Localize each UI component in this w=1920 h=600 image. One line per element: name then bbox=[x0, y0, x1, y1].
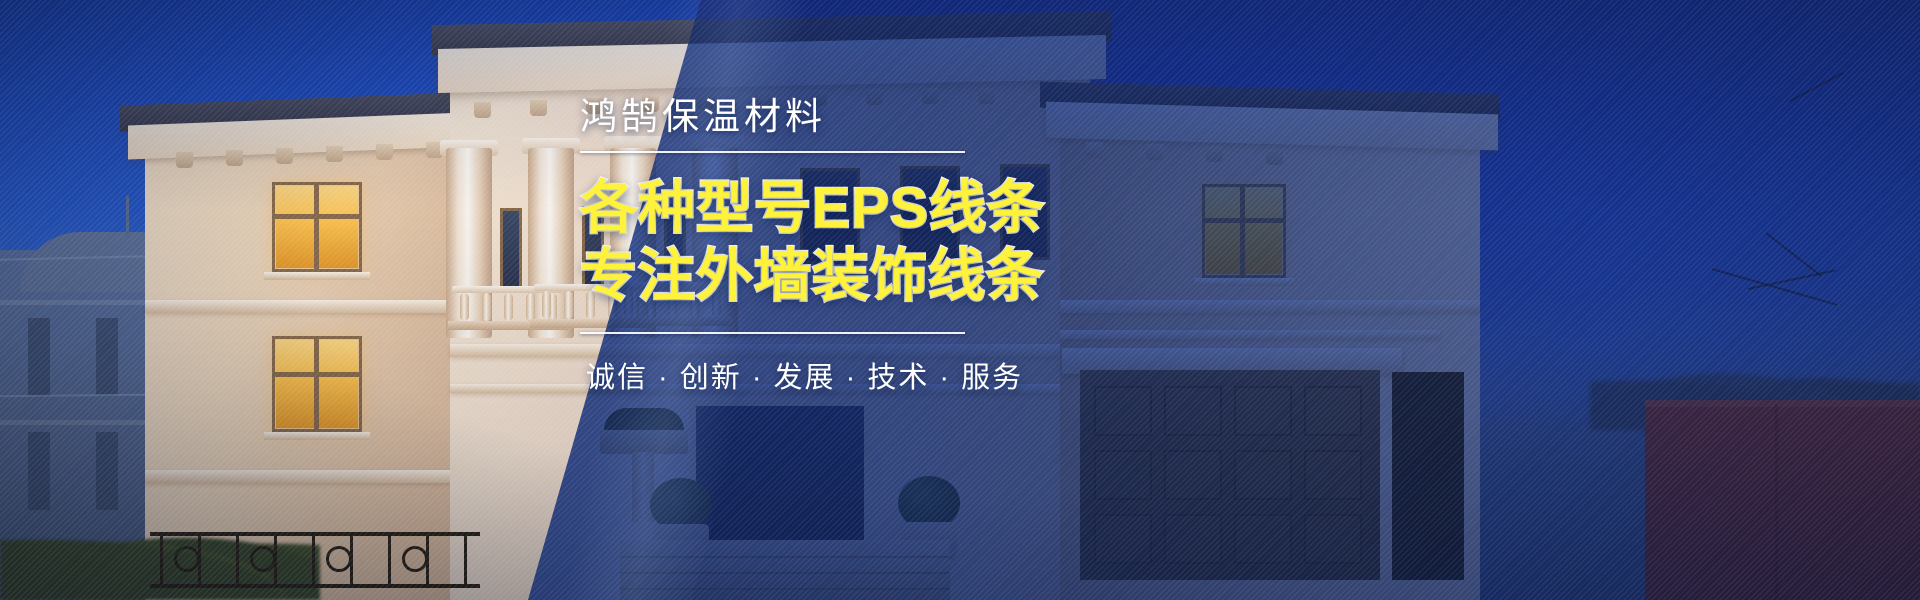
headline-line-1: 各种型号EPS线条 bbox=[580, 175, 1280, 242]
tagline: 诚信 · 创新 · 发展 · 技术 · 服务 bbox=[580, 354, 1280, 396]
promo-banner: 鸿鹄保温材料 各种型号EPS线条 专注外墙装饰线条 诚信 · 创新 · 发展 ·… bbox=[0, 0, 1920, 600]
divider-top bbox=[580, 151, 965, 153]
headline-group: 各种型号EPS线条 专注外墙装饰线条 bbox=[580, 175, 1280, 310]
divider-bottom bbox=[580, 332, 965, 334]
company-name: 鸿鹄保温材料 bbox=[580, 96, 1280, 137]
banner-text-block: 鸿鹄保温材料 各种型号EPS线条 专注外墙装饰线条 诚信 · 创新 · 发展 ·… bbox=[580, 96, 1280, 396]
headline-line-2: 专注外墙装饰线条 bbox=[580, 243, 1280, 310]
